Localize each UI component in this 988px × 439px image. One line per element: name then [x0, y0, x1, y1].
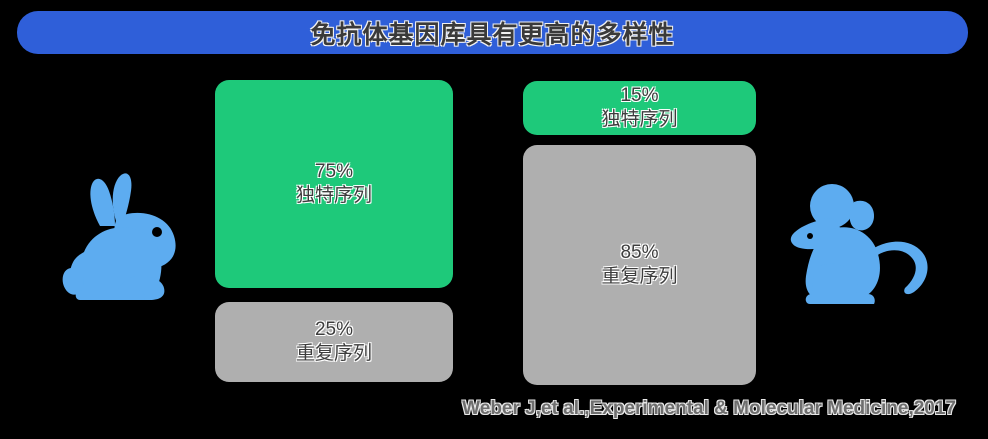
bar-rabbit-unique-percent: 75% — [315, 160, 353, 184]
mouse-icon — [788, 182, 936, 312]
bar-rabbit-duplicate-percent: 25% — [315, 318, 353, 342]
citation-text: Weber J,et al.,Experimental & Molecular … — [0, 398, 956, 420]
bar-rabbit-unique: 75% 独特序列 — [215, 80, 453, 288]
bar-mouse-duplicate: 85% 重复序列 — [523, 145, 756, 385]
rabbit-icon — [60, 164, 190, 312]
bar-rabbit-unique-label: 独特序列 — [296, 184, 372, 208]
bar-rabbit-duplicate-label: 重复序列 — [296, 342, 372, 366]
page-title: 免抗体基因库具有更高的多样性 — [310, 15, 674, 51]
mouse-eye — [807, 233, 813, 239]
bar-mouse-unique: 15% 独特序列 — [523, 81, 756, 135]
bar-rabbit-duplicate: 25% 重复序列 — [215, 302, 453, 382]
rabbit-eye — [152, 227, 162, 237]
title-banner: 免抗体基因库具有更高的多样性 — [17, 11, 968, 54]
bar-mouse-unique-percent: 15% — [620, 84, 658, 108]
bar-mouse-duplicate-label: 重复序列 — [601, 265, 677, 289]
bar-mouse-duplicate-percent: 85% — [620, 241, 658, 265]
slide-canvas: 免抗体基因库具有更高的多样性 75% 独特序列 — [0, 0, 988, 439]
bar-mouse-unique-label: 独特序列 — [601, 108, 677, 132]
